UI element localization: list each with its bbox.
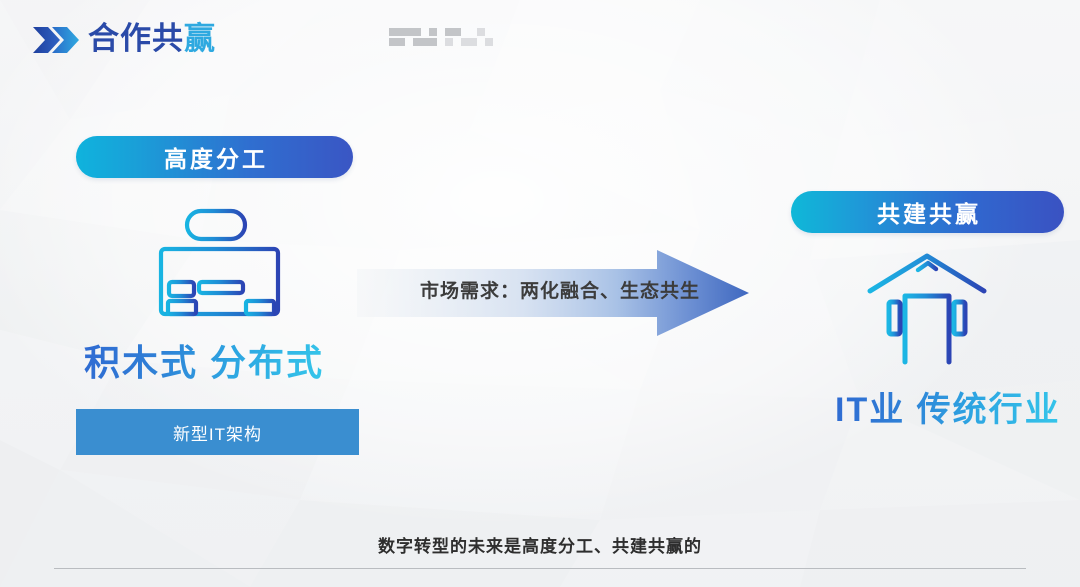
pill-high-division-of-labor[interactable]: 高度分工 [76,136,353,178]
slide-canvas: 合作共赢 高度分工 [0,0,1080,587]
pill-left-label: 高度分工 [161,140,268,174]
footer-caption: 数字转型的未来是高度分工、共建共赢的 [0,532,1080,557]
slide-header: 合作共赢 [0,0,1080,82]
page-title: 合作共赢 [88,19,216,59]
right-caption-it-and-traditional-industry: IT业 传统行业 [835,382,1061,431]
house-icon [862,250,992,368]
arrow-label-market-demand: 市场需求：两化融合、生态共生 [400,276,720,303]
pill-right-label: 共建共赢 [874,195,981,229]
page-title-light-part: 赢 [184,21,216,56]
factory-building-icon [152,200,287,320]
label-new-it-architecture[interactable]: 新型IT架构 [76,409,359,455]
label-box-text: 新型IT架构 [173,420,262,445]
double-chevron-icon [33,25,81,55]
redacted-logo-icon [389,28,501,48]
page-title-dark-part: 合作共 [88,21,184,56]
pill-build-and-win-together[interactable]: 共建共赢 [791,191,1064,233]
left-caption-modular-distributed: 积木式 分布式 [84,334,324,386]
footer-divider [54,568,1026,569]
